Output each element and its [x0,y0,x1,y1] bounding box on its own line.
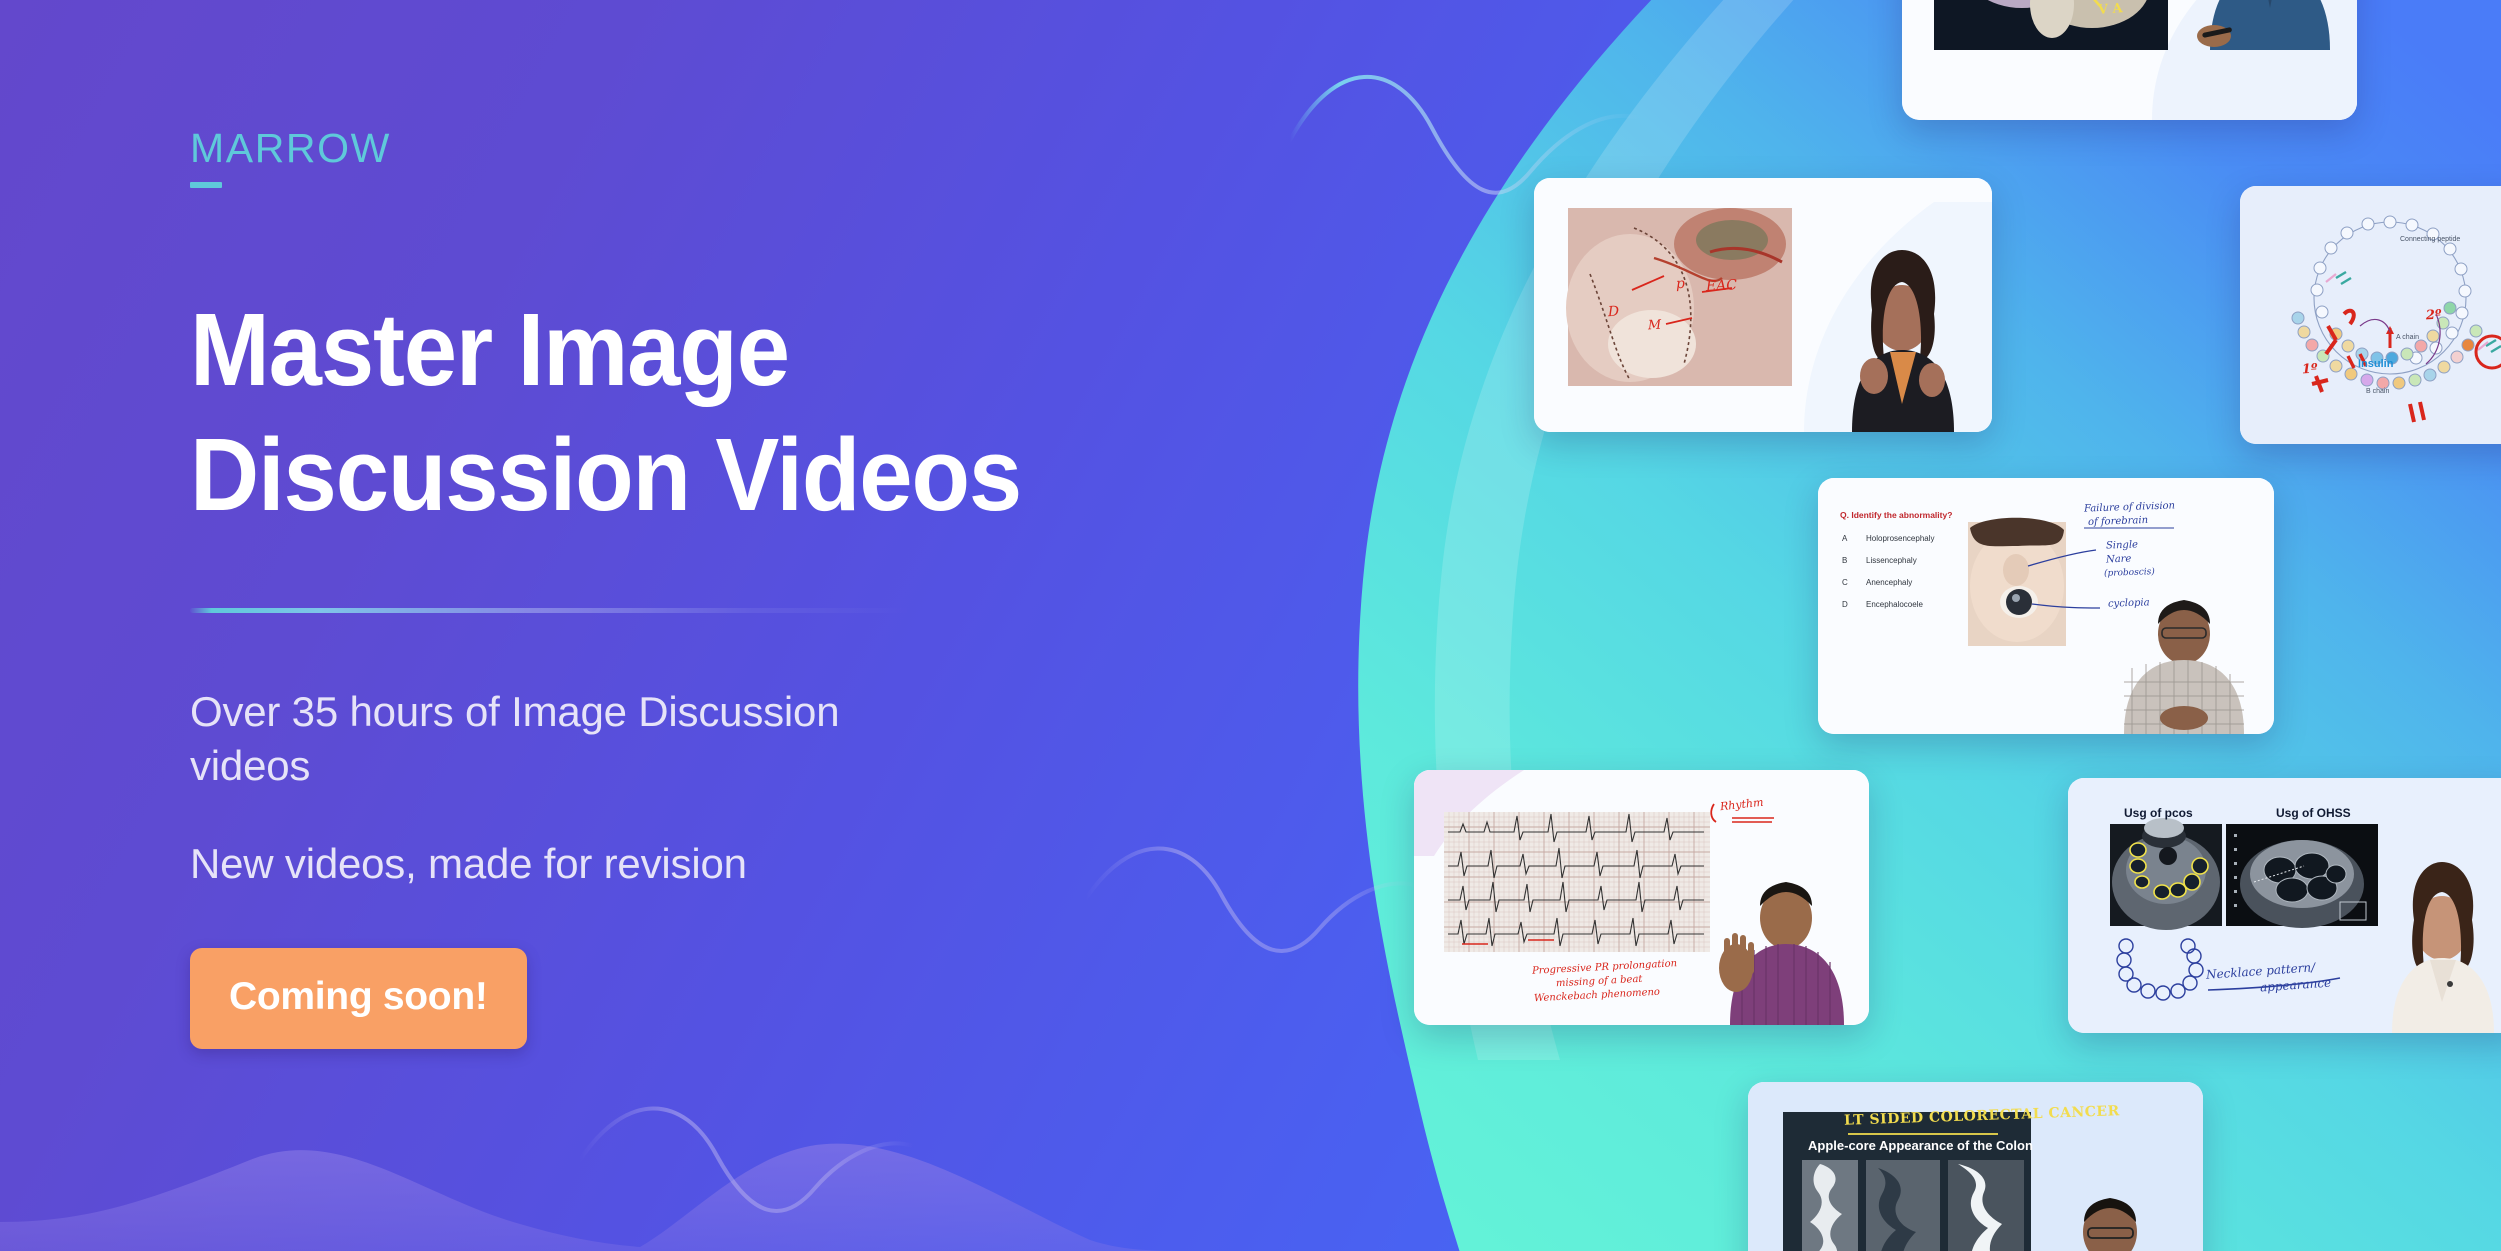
gradient-divider [190,608,910,613]
label-a-chain: A chain [2396,334,2419,341]
colorectal-printed-title: Apple-core Appearance of the Colon [1808,1138,2033,1153]
mcq-key-c: C [1842,578,1848,587]
mcq-option-b[interactable]: Lissencephaly [1866,556,1917,565]
headline-line-1: Master Image [190,298,1167,401]
mcq-key-a: A [1842,534,1847,543]
label-connecting-peptide: Connecting peptide [2400,236,2460,243]
page-title: Master Image Discussion Videos [190,298,1167,526]
neuroanatomy-card[interactable]: Basillar V A Cord cutting [1902,0,2357,120]
hero-content: MARROW Master Image Discussion Videos Ov… [190,0,1240,1251]
subtitle-hours: Over 35 hours of Image Discussion videos [190,685,890,793]
insulin-diagram-card[interactable]: Connecting peptide A chain B chain Insul… [2240,186,2501,444]
ent-surgery-card-art [1534,178,1992,432]
headline-line-2: Discussion Videos [190,423,1167,526]
label-usg-ohss: Usg of OHSS [2276,806,2351,820]
insulin-diagram-card-art [2240,186,2501,444]
mcq-option-a[interactable]: Holoprosencephaly [1866,534,1935,543]
ultrasound-pcos-card[interactable]: Usg of pcos Usg of OHSS Necklace pattern… [2068,778,2501,1033]
mcq-key-d: D [1842,600,1848,609]
ecg-card-art [1414,770,1869,1025]
mcq-option-d[interactable]: Encephalocoele [1866,600,1923,609]
coming-soon-button[interactable]: Coming soon! [190,948,527,1049]
mcq-option-c[interactable]: Anencephaly [1866,578,1912,587]
mcq-key-b: B [1842,556,1847,565]
label-usg-pcos: Usg of pcos [2124,806,2193,820]
neuroanatomy-card-art [1902,0,2357,120]
mcq-question: Q. Identify the abnormality? [1840,510,1952,520]
subtitle-revision: New videos, made for revision [190,837,1240,891]
label-b-chain: B chain [2366,388,2389,395]
marrow-logo[interactable]: MARROW [190,128,1240,188]
colorectal-card-art [1748,1082,2203,1251]
mcq-pediatrics-card[interactable]: Q. Identify the abnormality? A Holoprose… [1818,478,2274,734]
ent-surgery-card[interactable]: D M p EAC [1534,178,1992,432]
ecg-card[interactable]: Rhythm Progressive PR prolongation missi… [1414,770,1869,1025]
colorectal-card[interactable]: LT SIDED COLORECTAL CANCER Apple-core Ap… [1748,1082,2203,1251]
logo-underline-rule [190,182,222,188]
label-insulin: Insulin [2358,358,2393,370]
logo-wordmark: MARROW [190,128,1240,169]
